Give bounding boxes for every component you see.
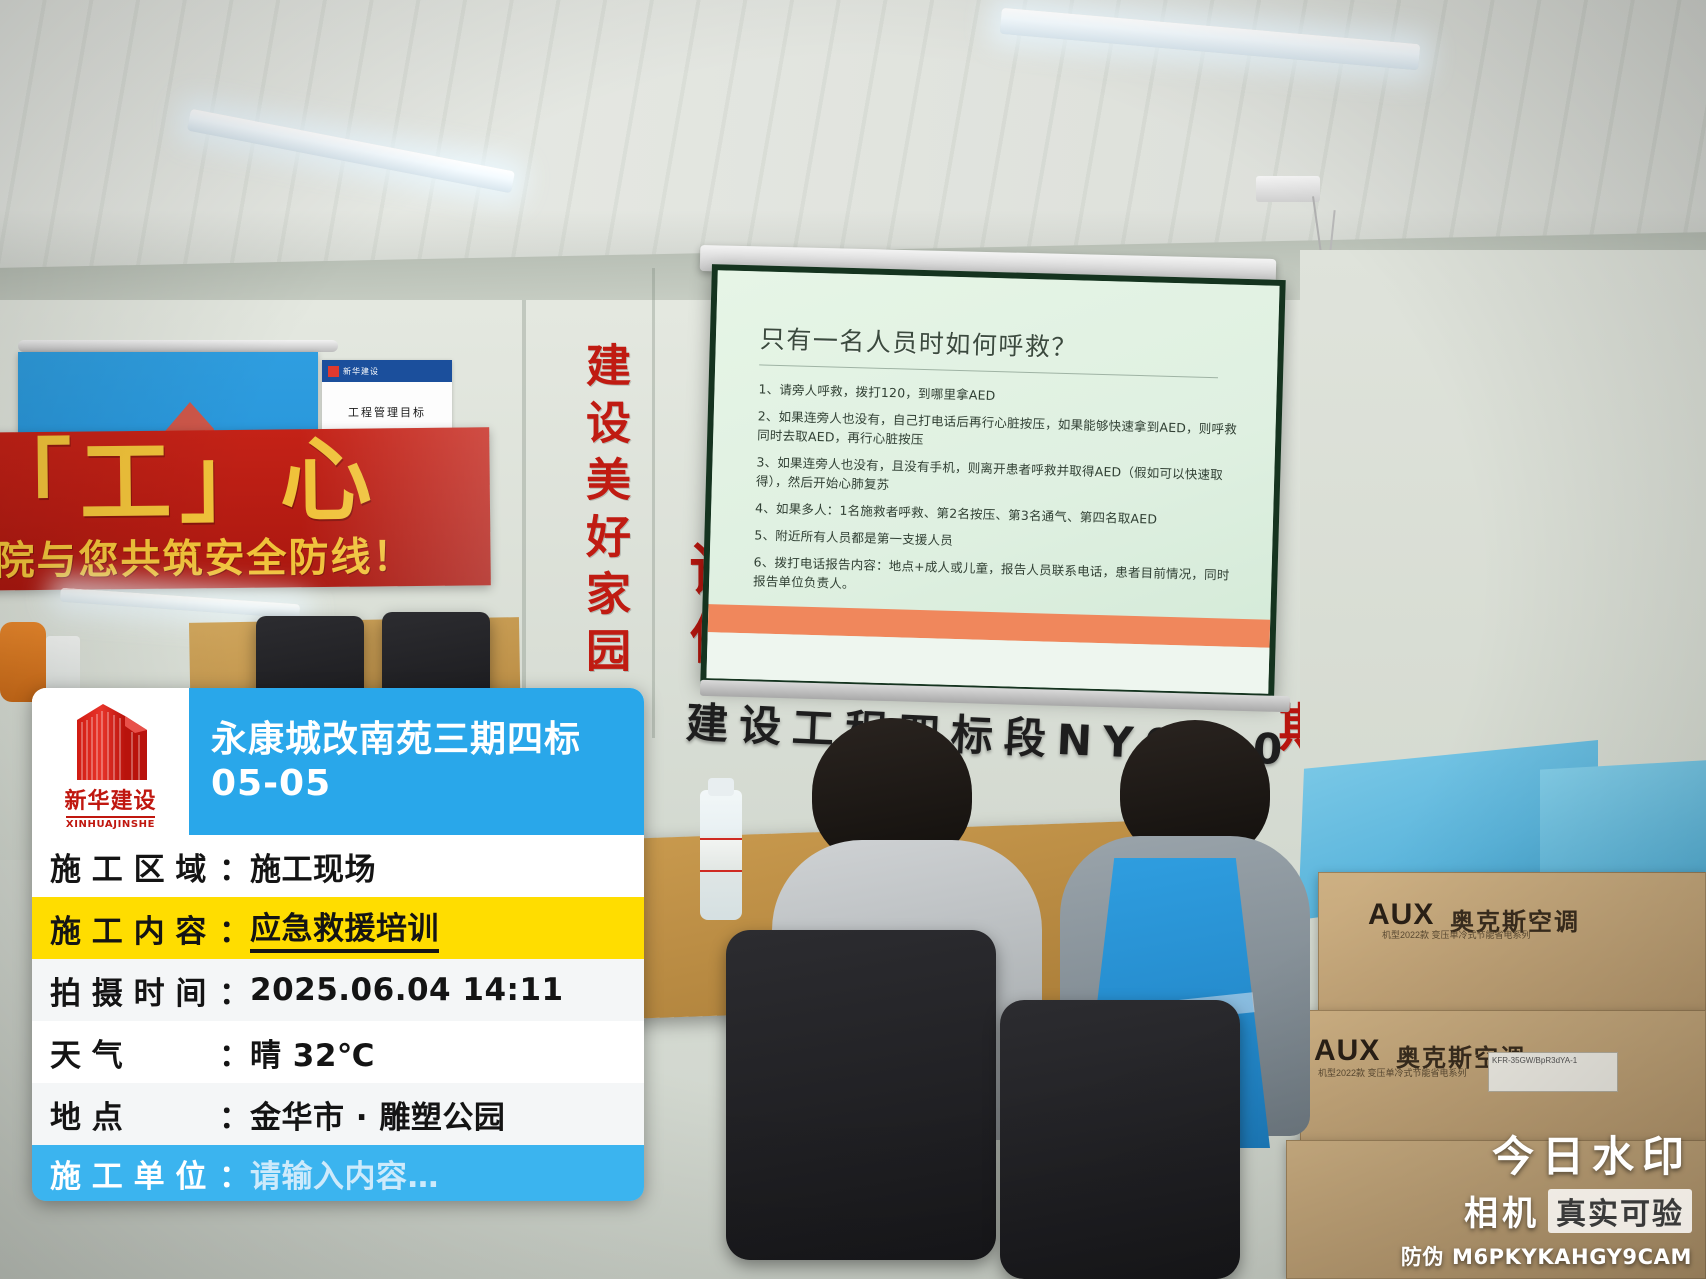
board-title: 工程管理目标 (322, 404, 452, 420)
construction-unit-label: 施 工 单 位： (50, 1151, 250, 1196)
carton-code-label: 机型2022款 变压单冷式节能省电系列 (1318, 1066, 1467, 1079)
weather-label: 天 气： (50, 1030, 250, 1075)
work-content-label: 施 工 内 容： (50, 906, 250, 951)
slide-divider (759, 364, 1218, 378)
screenshot-root: 新华建设 工程管理目标 「工」心 医院与您共筑安全防线！ 建设美好家园 诚信 卓… (0, 0, 1706, 1279)
wall-seam (522, 300, 526, 730)
wall-text-vertical-left: 建设美好家园 (572, 342, 637, 684)
watermark-info-card: 新华建设 XINHUAJINSHE 永康城改南苑三期四标05-05 施 工 区 … (32, 688, 644, 1201)
carton-brand-label: AUX (1314, 1034, 1380, 1068)
company-logo-en-text: XINHUAJINSHE (66, 816, 155, 830)
capture-time-label: 拍 摄 时 间： (50, 968, 250, 1013)
brand-verify-chip: 真实可验 (1548, 1189, 1692, 1233)
board-header-text: 新华建设 (343, 366, 379, 377)
capture-time-value: 2025.06.04 14:11 (250, 972, 564, 1008)
slide-bullet: 2、如果连旁人也没有，自己打电话后再行心脏按压，如果能够快速拿到AED，则呼救同… (757, 406, 1246, 458)
location-label: 地 点： (50, 1092, 250, 1137)
red-safety-banner: 「工」心 医院与您共筑安全防线！ (0, 427, 491, 590)
board-header: 新华建设 (322, 360, 452, 382)
info-row-construction-unit[interactable]: 施 工 单 位： 请输入内容… (32, 1145, 644, 1201)
slide-bullet: 1、请旁人呼救，拨打120，到哪里拿AED (758, 379, 1246, 412)
location-value: 金华市 · 雕塑公园 (250, 1092, 505, 1137)
brand-name-line1: 今日水印 (1401, 1123, 1692, 1184)
roller-banner-bar (18, 340, 338, 352)
watermark-card-header: 新华建设 XINHUAJINSHE 永康城改南苑三期四标05-05 (32, 688, 644, 835)
slide-bullet: 6、拨打电话报告内容：地点+成人或儿童，报告人员联系电话，患者目前情况，同时报告… (753, 552, 1242, 604)
work-area-value: 施工现场 (250, 844, 376, 889)
weather-value: 晴 32℃ (250, 1030, 375, 1075)
info-row-work-area[interactable]: 施 工 区 域： 施工现场 (32, 835, 644, 897)
carton-sticker: KFR-35GW/BpR3dYA-1 (1488, 1052, 1618, 1092)
bottle-label (700, 838, 742, 872)
anti-counterfeit-value: M6PKYKAHGY9CAM (1452, 1245, 1692, 1269)
info-row-capture-time[interactable]: 拍 摄 时 间： 2025.06.04 14:11 (32, 959, 644, 1021)
construction-unit-input[interactable]: 请输入内容… (250, 1151, 439, 1196)
info-row-weather[interactable]: 天 气： 晴 32℃ (32, 1021, 644, 1083)
work-area-label: 施 工 区 域： (50, 844, 250, 889)
work-content-value: 应急救援培训 (250, 903, 439, 953)
company-logo-cn-text: 新华建设 (64, 783, 156, 815)
bottle-cap (708, 778, 734, 796)
anti-counterfeit-code: 防伪 M6PKYKAHGY9CAM (1401, 1241, 1692, 1271)
project-title: 永康城改南苑三期四标05-05 (211, 718, 622, 806)
info-row-work-content[interactable]: 施 工 内 容： 应急救援培训 (32, 897, 644, 959)
project-title-banner: 永康城改南苑三期四标05-05 (189, 688, 644, 835)
carton-code-label: 机型2022款 变压单冷式节能省电系列 (1382, 928, 1531, 941)
slide-bullet: 3、如果连旁人也没有，且没有手机，则离开患者呼救并取得AED（假如可以快速取得）… (756, 452, 1245, 504)
building-logo-icon (63, 700, 159, 780)
chair (1000, 1000, 1240, 1279)
slide-title: 只有一名人员时如何呼救？ (759, 319, 1248, 369)
banner-sheen (299, 427, 491, 587)
wall-seam (652, 268, 655, 738)
carton-brand-label: AUX (1368, 898, 1434, 932)
anti-counterfeit-prefix: 防伪 (1401, 1245, 1444, 1269)
app-brand-watermark: 今日水印 相机 真实可验 防伪 M6PKYKAHGY9CAM (1401, 1123, 1692, 1271)
info-row-location[interactable]: 地 点： 金华市 · 雕塑公园 (32, 1083, 644, 1145)
slide-bullet: 5、附近所有人员都是第一支援人员 (754, 525, 1242, 558)
air-conditioner-icon (1256, 176, 1320, 202)
carton-box (1318, 872, 1706, 1022)
brand-name-line2: 相机 真实可验 (1401, 1186, 1692, 1235)
slide-bullet-list: 1、请旁人呼救，拨打120，到哪里拿AED 2、如果连旁人也没有，自己打电话后再… (753, 379, 1247, 604)
board-logo-icon (328, 366, 339, 377)
slide-bullet: 4、如果多人：1名施救者呼救、第2名按压、第3名通气、第四名取AED (755, 498, 1243, 531)
company-logo: 新华建设 XINHUAJINSHE (32, 688, 189, 835)
chair (726, 930, 996, 1260)
brand-name-camera: 相机 (1464, 1186, 1540, 1235)
projector-screen: 只有一名人员时如何呼救？ 1、请旁人呼救，拨打120，到哪里拿AED 2、如果连… (700, 264, 1286, 700)
